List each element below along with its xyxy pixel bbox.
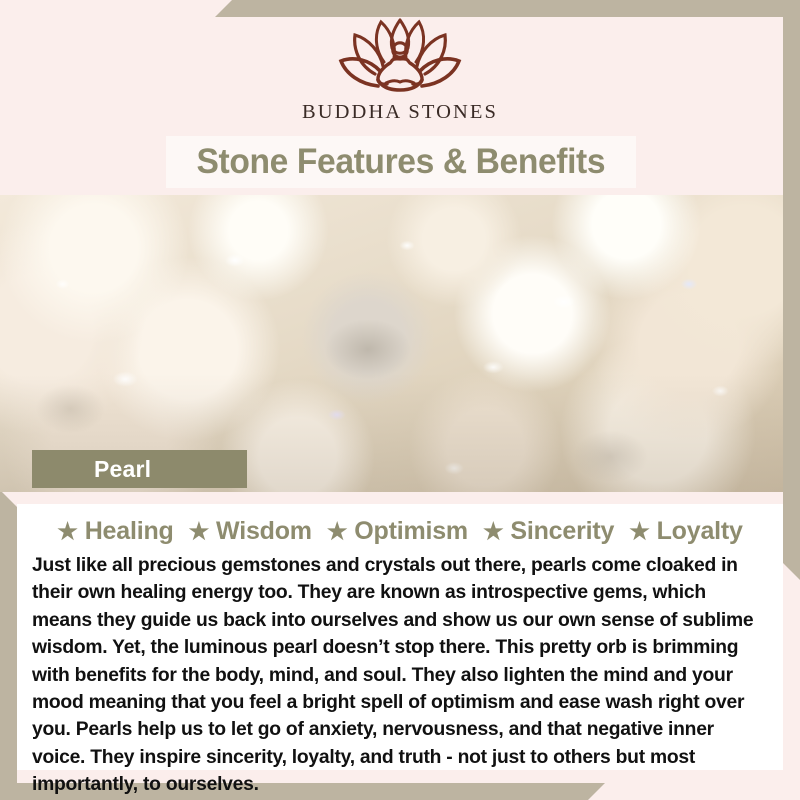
infographic-page: BUDDHA STONES Stone Features & Benefits … [0,0,800,800]
description-paragraph: Just like all precious gemstones and cry… [27,552,773,799]
star-icon: ★ [629,520,649,543]
star-icon: ★ [483,520,503,543]
benefit-item-healing: ★ Healing [57,517,173,546]
benefit-item-sincerity: ★ Sincerity [483,517,614,546]
stone-name: Pearl [94,456,151,483]
pearls-photo [0,195,783,492]
benefit-item-loyalty: ★ Loyalty [629,517,743,546]
benefit-item-wisdom: ★ Wisdom [189,517,312,546]
benefits-list: ★ Healing ★ Wisdom ★ Optimism ★ Sincerit… [27,514,773,548]
star-icon: ★ [57,520,77,543]
page-title: Stone Features & Benefits [197,142,606,182]
benefit-item-optimism: ★ Optimism [327,517,468,546]
benefit-label: Sincerity [510,517,614,546]
benefit-label: Optimism [354,517,468,546]
frame-left-bar [0,490,17,800]
star-icon: ★ [189,520,209,543]
lotus-meditation-icon [334,14,466,98]
content-card: ★ Healing ★ Wisdom ★ Optimism ★ Sincerit… [17,504,783,770]
benefit-label: Loyalty [657,517,743,546]
benefit-label: Wisdom [216,517,312,546]
stone-name-band: Pearl [32,450,247,488]
title-banner: Stone Features & Benefits [166,136,636,188]
brand-name: BUDDHA STONES [302,101,498,124]
benefit-label: Healing [85,517,174,546]
photo-shadow-layer [0,195,783,492]
star-icon: ★ [327,520,347,543]
brand-logo: BUDDHA STONES [0,14,800,144]
